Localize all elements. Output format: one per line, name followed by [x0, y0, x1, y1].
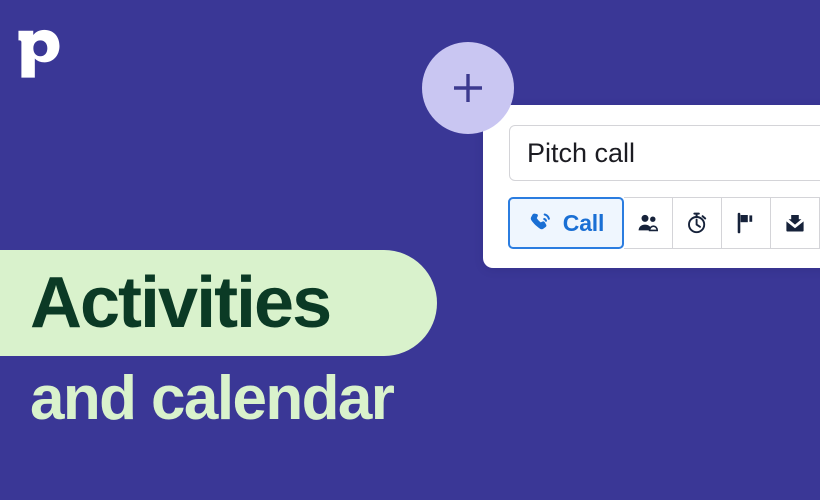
- activity-type-task[interactable]: [722, 197, 771, 249]
- plus-icon: [448, 68, 488, 108]
- people-meeting-icon: [636, 211, 660, 235]
- activity-type-selector: Call: [508, 197, 820, 249]
- flag-icon: [734, 211, 758, 235]
- activity-type-call-label: Call: [563, 210, 604, 237]
- activity-type-meeting[interactable]: [624, 197, 673, 249]
- email-tray-icon: [783, 211, 807, 235]
- headline-pill: Activities: [0, 250, 437, 356]
- phone-call-icon: [528, 210, 554, 236]
- pipedrive-p-logo: [17, 28, 61, 84]
- page-title: Activities: [30, 267, 330, 339]
- stopwatch-icon: [685, 211, 709, 235]
- activity-type-call[interactable]: Call: [508, 197, 624, 249]
- page-subtitle: and calendar: [30, 368, 393, 430]
- promo-banner: Call: [0, 0, 820, 500]
- activity-type-email[interactable]: [771, 197, 820, 249]
- activity-card: Call: [483, 105, 820, 268]
- activity-title-input[interactable]: [509, 125, 820, 181]
- activity-type-deadline[interactable]: [673, 197, 722, 249]
- add-activity-button[interactable]: [422, 42, 514, 134]
